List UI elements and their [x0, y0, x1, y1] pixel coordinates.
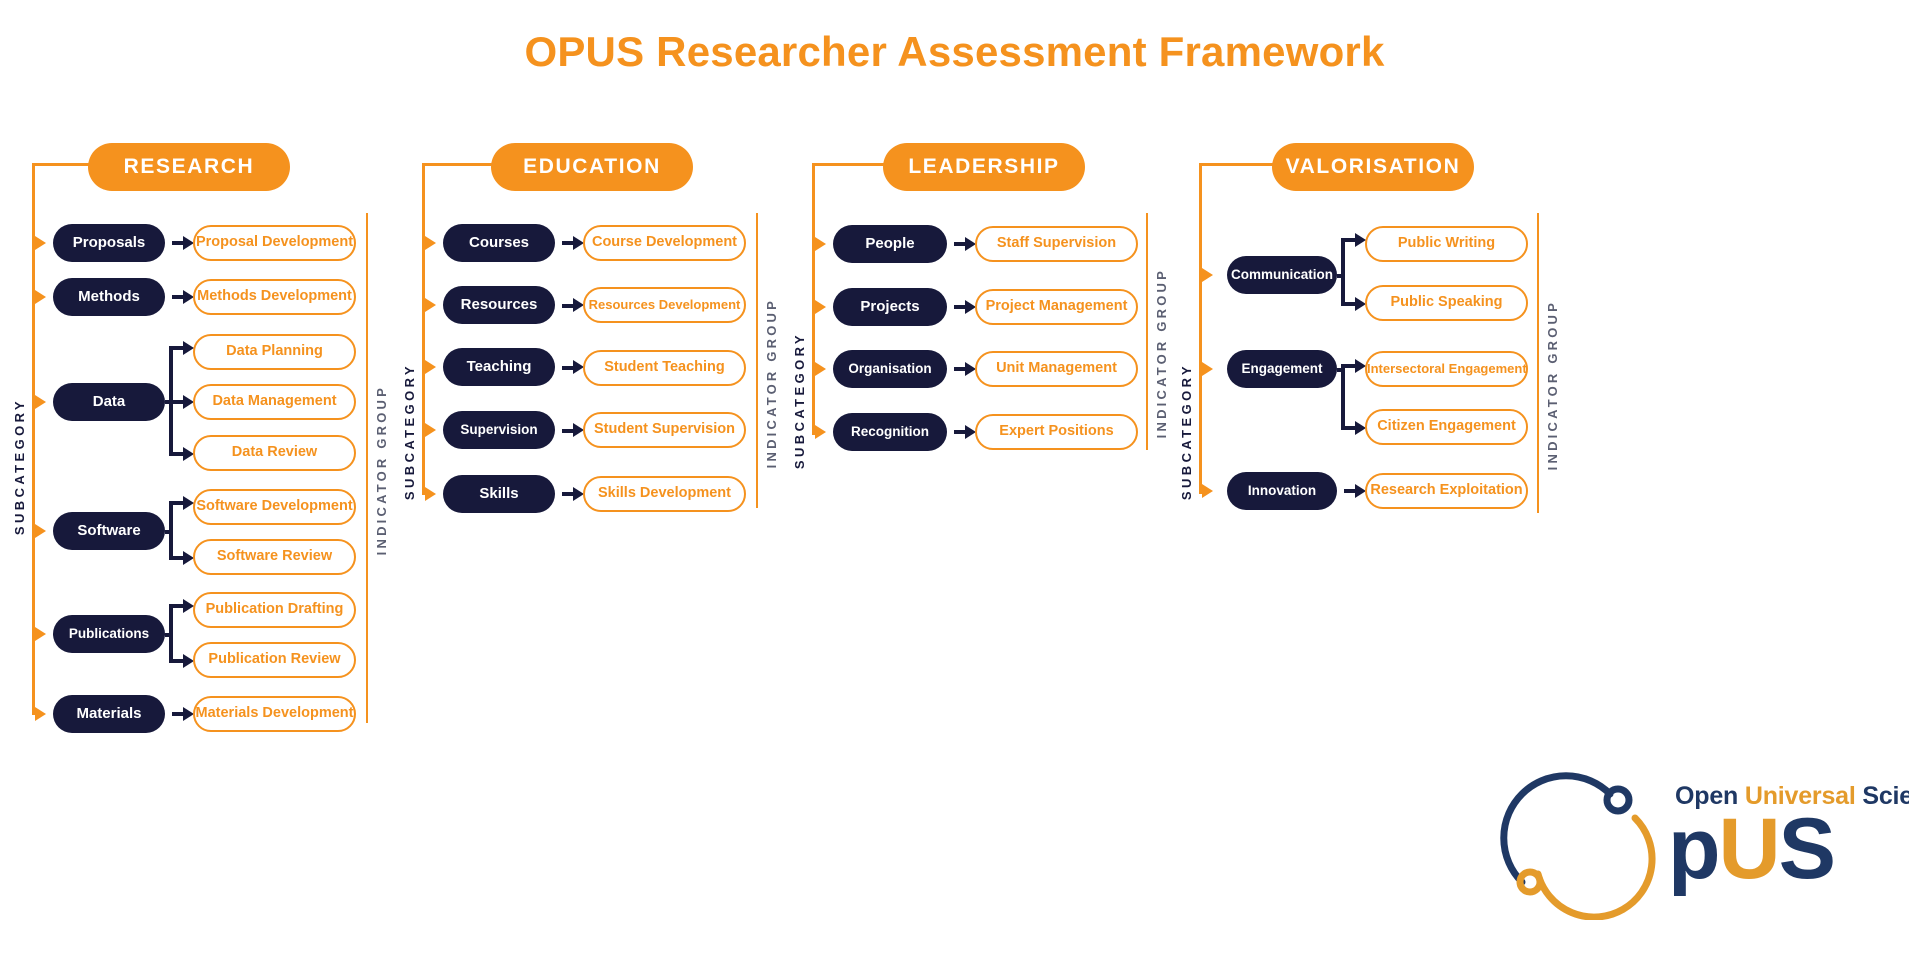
subcategory-data[interactable]: Data [53, 383, 165, 421]
subcategory-teaching[interactable]: Teaching [443, 348, 555, 386]
indicator-project-management[interactable]: Project Management [975, 289, 1138, 325]
category-header-leadership[interactable]: LEADERSHIP [883, 143, 1085, 191]
logo-wordmark-p: p [1668, 801, 1719, 897]
subcategory-methods[interactable]: Methods [53, 278, 165, 316]
axis-label-indicator-group-research: INDICATOR GROUP [374, 385, 389, 555]
indicator-staff-supervision[interactable]: Staff Supervision [975, 226, 1138, 262]
indicator-divider-leadership [1146, 213, 1148, 450]
arrow-to-subcat-publications [35, 627, 46, 641]
indicator-intersectoral-engagement[interactable]: Intersectoral Engagement [1365, 351, 1528, 387]
indicator-software-review[interactable]: Software Review [193, 539, 356, 575]
bracket-publications [169, 604, 173, 659]
indicator-divider-research [366, 213, 368, 723]
category-header-valorisation[interactable]: VALORISATION [1272, 143, 1474, 191]
indicator-skills-development[interactable]: Skills Development [583, 476, 746, 512]
indicator-materials-development[interactable]: Materials Development [193, 696, 356, 732]
subcategory-recognition[interactable]: Recognition [833, 413, 947, 451]
axis-label-subcategory-valorisation: SUBCATEGORY [1179, 363, 1194, 500]
trunk-connector-valorisation [1199, 163, 1275, 166]
trunk-connector-leadership [812, 163, 886, 166]
arrow-to-subcat-software [35, 524, 46, 538]
indicator-publication-drafting[interactable]: Publication Drafting [193, 592, 356, 628]
logo-wordmark-u: U [1719, 801, 1779, 897]
arrow-to-subcat-skills [425, 487, 436, 501]
bracket-communication [1341, 238, 1345, 303]
indicator-expert-positions[interactable]: Expert Positions [975, 414, 1138, 450]
trunk-leadership [812, 163, 815, 435]
indicator-software-development[interactable]: Software Development [193, 489, 356, 525]
indicator-data-planning[interactable]: Data Planning [193, 334, 356, 370]
indicator-public-writing[interactable]: Public Writing [1365, 226, 1528, 262]
arrow-to-subcat-data [35, 395, 46, 409]
indicator-data-management[interactable]: Data Management [193, 384, 356, 420]
subcategory-materials[interactable]: Materials [53, 695, 165, 733]
logo-wordmark-s: S [1779, 801, 1834, 897]
axis-label-indicator-group-valorisation: INDICATOR GROUP [1545, 300, 1560, 470]
axis-label-indicator-group-leadership: INDICATOR GROUP [1154, 268, 1169, 438]
indicator-public-speaking[interactable]: Public Speaking [1365, 285, 1528, 321]
trunk-valorisation [1199, 163, 1202, 494]
axis-label-subcategory-education: SUBCATEGORY [402, 363, 417, 500]
axis-label-indicator-group-education: INDICATOR GROUP [764, 298, 779, 468]
page-title: OPUS Researcher Assessment Framework [0, 28, 1909, 76]
trunk-education [422, 163, 425, 495]
logo-tagline-science: Science [1862, 782, 1909, 810]
arrow-to-subcat-organisation [815, 362, 826, 376]
subcategory-projects[interactable]: Projects [833, 288, 947, 326]
subcategory-people[interactable]: People [833, 225, 947, 263]
indicator-publication-review[interactable]: Publication Review [193, 642, 356, 678]
indicator-divider-education [756, 213, 758, 508]
subcategory-communication[interactable]: Communication [1227, 256, 1337, 294]
bracket-engagement [1341, 364, 1345, 426]
indicator-methods-development[interactable]: Methods Development [193, 279, 356, 315]
axis-label-subcategory-research: SUBCATEGORY [12, 398, 27, 535]
subcategory-resources[interactable]: Resources [443, 286, 555, 324]
opus-logo-wordmark: pUS [1668, 806, 1834, 892]
arrow-to-subcat-materials [35, 707, 46, 721]
indicator-proposal-development[interactable]: Proposal Development [193, 225, 356, 261]
arrow-to-subcat-courses [425, 236, 436, 250]
arrow-to-subcat-communication [1202, 268, 1213, 282]
subcategory-software[interactable]: Software [53, 512, 165, 550]
subcategory-publications[interactable]: Publications [53, 615, 165, 653]
indicator-student-supervision[interactable]: Student Supervision [583, 412, 746, 448]
arrow-to-subcat-proposals [35, 236, 46, 250]
subcategory-supervision[interactable]: Supervision [443, 411, 555, 449]
category-header-research[interactable]: RESEARCH [88, 143, 290, 191]
framework-diagram: OPUS Researcher Assessment Framework RES… [0, 0, 1909, 965]
subcategory-organisation[interactable]: Organisation [833, 350, 947, 388]
indicator-citizen-engagement[interactable]: Citizen Engagement [1365, 409, 1528, 445]
arrow-to-subcat-innovation [1202, 484, 1213, 498]
axis-label-subcategory-leadership: SUBCATEGORY [792, 332, 807, 469]
arrow-to-subcat-recognition [815, 425, 826, 439]
arrow-to-subcat-resources [425, 298, 436, 312]
indicator-unit-management[interactable]: Unit Management [975, 351, 1138, 387]
category-header-education[interactable]: EDUCATION [491, 143, 693, 191]
subcategory-courses[interactable]: Courses [443, 224, 555, 262]
indicator-course-development[interactable]: Course Development [583, 225, 746, 261]
arrow-to-subcat-projects [815, 300, 826, 314]
indicator-divider-valorisation [1537, 213, 1539, 513]
arrow-to-subcat-engagement [1202, 362, 1213, 376]
indicator-research-exploitation[interactable]: Research Exploitation [1365, 473, 1528, 509]
opus-logo: Open Universal Science pUS [1490, 770, 1890, 920]
arrow-to-subcat-teaching [425, 360, 436, 374]
arrow-to-subcat-people [815, 237, 826, 251]
subcategory-innovation[interactable]: Innovation [1227, 472, 1337, 510]
trunk-connector-education [422, 163, 494, 166]
subcategory-engagement[interactable]: Engagement [1227, 350, 1337, 388]
indicator-resources-development[interactable]: Resources Development [583, 287, 746, 323]
indicator-data-review[interactable]: Data Review [193, 435, 356, 471]
subcategory-proposals[interactable]: Proposals [53, 224, 165, 262]
indicator-student-teaching[interactable]: Student Teaching [583, 350, 746, 386]
arrow-to-subcat-supervision [425, 423, 436, 437]
trunk-connector-research [32, 163, 92, 166]
bracket-software [169, 501, 173, 556]
subcategory-skills[interactable]: Skills [443, 475, 555, 513]
arrow-to-subcat-methods [35, 290, 46, 304]
